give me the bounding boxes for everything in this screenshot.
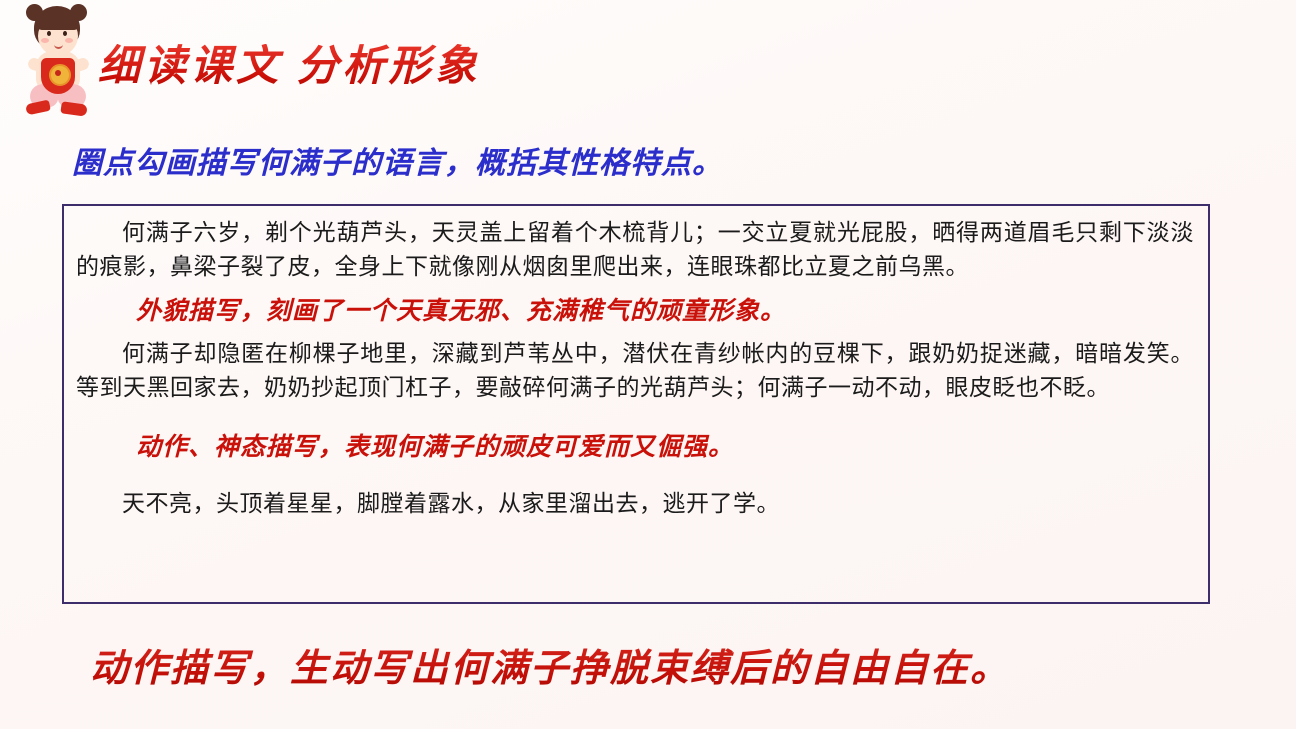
mascot-eye-right-icon (63, 31, 67, 36)
excerpt-paragraph-3: 天不亮，头顶着星星，脚膛着露水，从家里溜出去，逃开了学。 (76, 487, 1194, 521)
mascot-bib-center-dot-icon (55, 70, 61, 76)
mascot-cheek-right-icon (65, 38, 73, 43)
new-year-child-illustration-icon (14, 2, 98, 118)
annotation-action-expression-description: 动作、神态描写，表现何满子的顽皮可爱而又倔强。 (76, 429, 1194, 467)
mascot-shoe-left-icon (25, 100, 51, 116)
excerpt-paragraph-2: 何满子却隐匿在柳棵子地里，深藏到芦苇丛中，潜伏在青纱帐内的豆棵下，跟奶奶捉迷藏，… (76, 337, 1194, 405)
mascot-fringe-icon (37, 13, 79, 30)
text-excerpt-box: 何满子六岁，剃个光葫芦头，天灵盖上留着个木梳背儿；一交立夏就光屁股，晒得两道眉毛… (62, 204, 1210, 604)
mascot-shoe-right-icon (60, 101, 87, 117)
conclusion-annotation: 动作描写，生动写出何满子挣脱束缚后的自由自在。 (90, 637, 1010, 692)
slide-canvas: 细读课文 分析形象 圈点勾画描写何满子的语言，概括其性格特点。 何满子六岁，剃个… (0, 0, 1296, 729)
slide-subtitle-question: 圈点勾画描写何满子的语言，概括其性格特点。 (72, 138, 723, 182)
mascot-eye-left-icon (47, 31, 51, 36)
annotation-appearance-description: 外貌描写，刻画了一个天真无邪、充满稚气的顽童形象。 (76, 293, 1194, 331)
slide-title: 细读课文 分析形象 (98, 44, 481, 90)
mascot-cheek-left-icon (41, 38, 49, 43)
excerpt-paragraph-1: 何满子六岁，剃个光葫芦头，天灵盖上留着个木梳背儿；一交立夏就光屁股，晒得两道眉毛… (76, 216, 1194, 284)
slide-header: 细读课文 分析形象 (0, 0, 1296, 122)
